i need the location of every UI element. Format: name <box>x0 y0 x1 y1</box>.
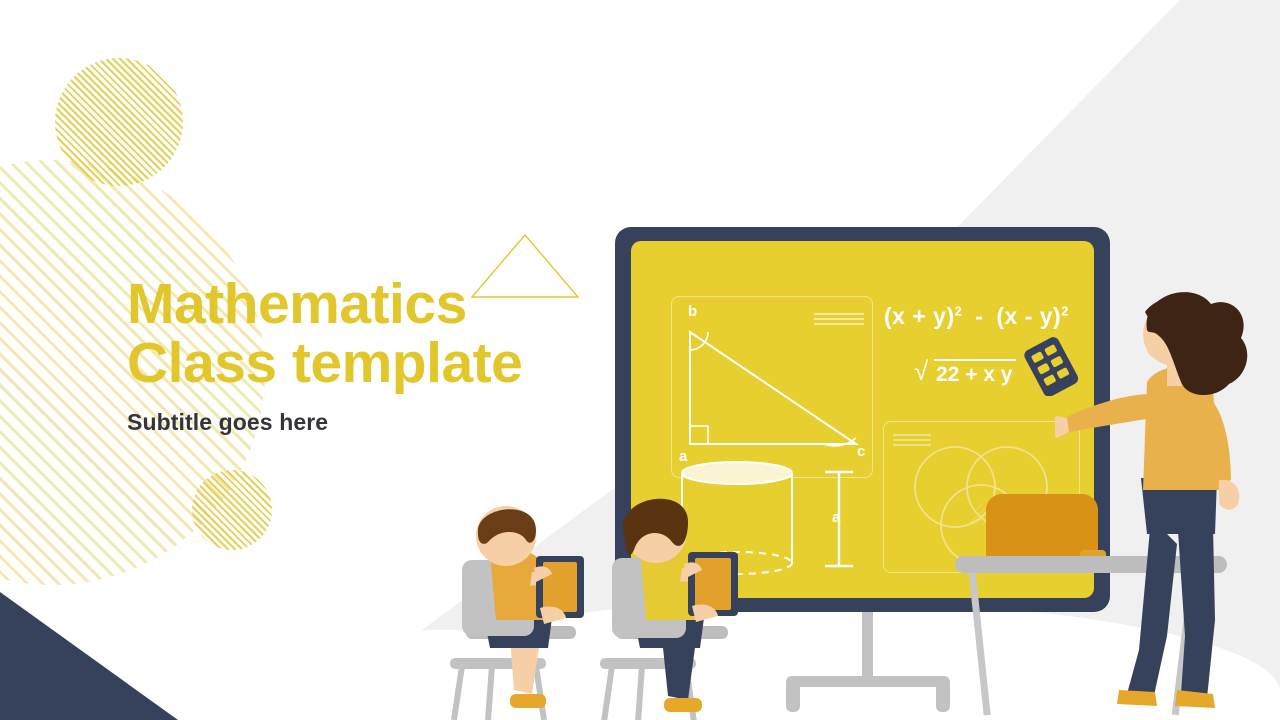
teacher-hand-right <box>1219 480 1239 510</box>
radical-sign: √ <box>914 361 928 381</box>
teacher-shoe-front <box>1175 690 1215 708</box>
teacher-leg-front <box>1177 516 1215 698</box>
board-stand-base <box>790 676 946 687</box>
decorative-striped-circle-top <box>55 58 183 186</box>
board-stand-post <box>862 608 873 682</box>
student-shoe-right <box>664 698 702 712</box>
calculator-icon <box>1022 336 1084 396</box>
radical-body: 22 + x y <box>934 359 1016 387</box>
cylinder-label-a: a <box>832 509 840 526</box>
radical-group: √ 22 + x y <box>914 359 1016 387</box>
page-title-line-2: Class template <box>127 334 647 393</box>
teacher-leg-back <box>1127 518 1177 700</box>
tablet-screen-right <box>695 558 731 610</box>
board-stand-foot-left <box>786 676 800 712</box>
student-figure-right <box>588 490 763 720</box>
triangle-label-c: c <box>857 443 865 460</box>
slide-canvas: Mathematics Class template Subtitle goes… <box>0 0 1280 720</box>
teacher-arm-left <box>1059 394 1153 434</box>
formula-expansion: (x + y)2 - (x - y)2 <box>884 303 1069 330</box>
right-triangle-diagram <box>686 326 866 466</box>
student-figure-left <box>440 498 610 720</box>
triangle-label-b: b <box>688 303 697 320</box>
teacher-shoe-back <box>1117 690 1157 706</box>
page-subtitle: Subtitle goes here <box>127 409 647 436</box>
decorative-striped-circle-bottom <box>192 470 272 550</box>
formula-operator: - <box>969 303 989 329</box>
formula-radical: √ 22 + x y <box>914 359 1016 387</box>
board-stand-foot-right <box>936 676 950 712</box>
page-title-line-1: Mathematics <box>127 275 647 334</box>
formula-exp-1: 2 <box>955 303 963 318</box>
formula-term-1: (x + y) <box>884 303 955 329</box>
student-shoe-left <box>510 694 546 708</box>
title-block: Mathematics Class template Subtitle goes… <box>127 275 647 436</box>
teacher-figure <box>1055 290 1270 720</box>
formula-term-2: (x - y) <box>996 303 1061 329</box>
teacher-hand-left <box>1055 416 1069 438</box>
